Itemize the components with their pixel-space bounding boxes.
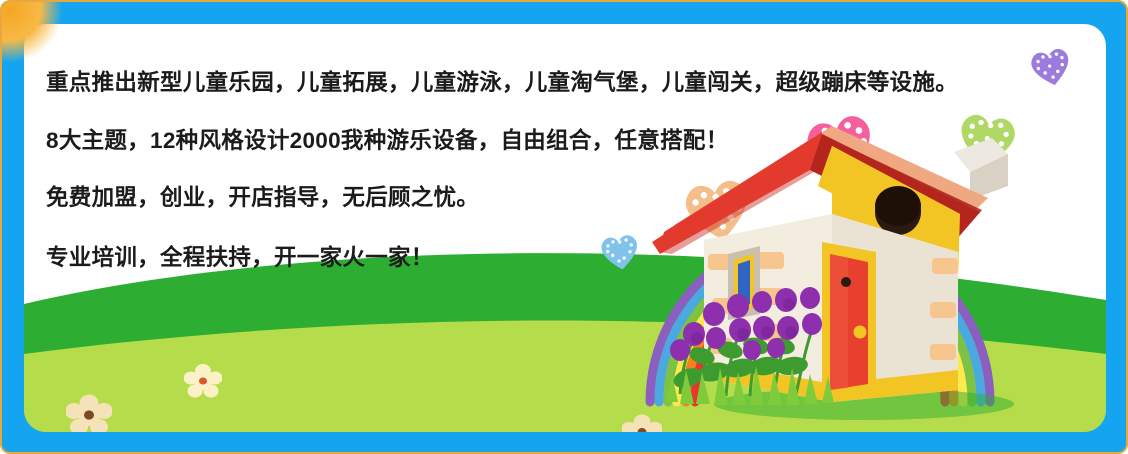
grass-front-hill xyxy=(24,320,1106,432)
heart-green-icon xyxy=(950,106,1024,175)
grass-background xyxy=(24,242,1106,432)
copy-line-3: 免费加盟，创业，开店指导，无后顾之忧。 xyxy=(46,187,746,210)
promo-banner: 重点推出新型儿童乐园，儿童拓展，儿童游泳，儿童淘气堡，儿童闯关，超级蹦床等设施。… xyxy=(0,0,1128,454)
copy-line-1: 重点推出新型儿童乐园，儿童拓展，儿童游泳，儿童淘气堡，儿童闯关，超级蹦床等设施。 xyxy=(46,72,746,95)
heart-pink-icon xyxy=(795,104,888,191)
heart-purple-icon xyxy=(1024,42,1078,93)
copy-line-4: 专业培训，全程扶持，开一家火一家！ xyxy=(46,247,746,270)
attic-hole-icon xyxy=(875,189,921,235)
house-chimney xyxy=(954,138,1008,200)
copy-line-2: 8大主题，12种风格设计2000我种游乐设备，自由组合，任意搭配！ xyxy=(46,130,746,153)
copy-block: 重点推出新型儿童乐园，儿童拓展，儿童游泳，儿童淘气堡，儿童闯关，超级蹦床等设施。… xyxy=(46,48,746,269)
banner-card: 重点推出新型儿童乐园，儿童拓展，儿童游泳，儿童淘气堡，儿童闯关，超级蹦床等设施。… xyxy=(24,24,1106,432)
